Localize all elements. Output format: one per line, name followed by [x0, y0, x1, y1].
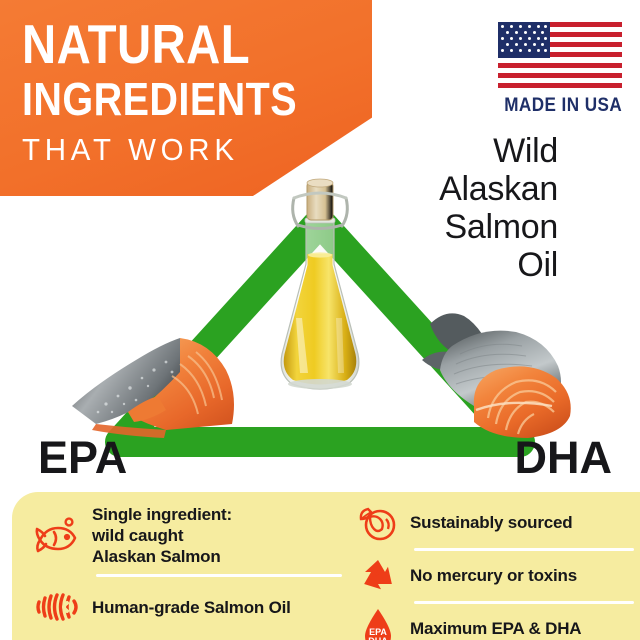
droplet-text-dha: DHA [368, 636, 388, 640]
feature-divider [414, 601, 634, 604]
headline-line-1: NATURAL [22, 18, 280, 72]
fish-outline-icon [34, 513, 80, 559]
feature-item-maximum-epa-dha: EPA DHA Maximum EPA & DHA [356, 608, 634, 640]
feature-text-single-ingredient: Single ingredient: wild caught Alaskan S… [92, 504, 232, 567]
recycle-icon [356, 555, 400, 597]
feature-line: wild caught [92, 525, 232, 546]
feature-text-no-mercury: No mercury or toxins [410, 565, 577, 586]
feature-line: Single ingredient: [92, 504, 232, 525]
epa-label: EPA [38, 432, 127, 484]
feature-line: Sustainably sourced [410, 512, 572, 533]
feature-line: No mercury or toxins [410, 565, 577, 586]
product-title-line-1: Wild [328, 132, 558, 170]
features-panel: Single ingredient: wild caught Alaskan S… [12, 492, 640, 640]
feature-item-no-mercury: No mercury or toxins [356, 555, 634, 597]
dha-label: DHA [515, 432, 613, 484]
oil-bottle-icon [272, 168, 368, 398]
globe-leaf-icon [356, 502, 400, 544]
usa-flag-icon [498, 22, 622, 88]
headline-text-group: NATURAL INGREDIENTS THAT WORK [22, 18, 322, 168]
feature-line: Human-grade Salmon Oil [92, 597, 291, 618]
salmon-fillet-stripes-icon [34, 584, 80, 630]
feature-item-human-grade: Human-grade Salmon Oil [34, 584, 342, 630]
feature-text-maximum-epa-dha: Maximum EPA & DHA [410, 618, 581, 639]
headline-line-3: THAT WORK [22, 132, 307, 168]
headline-line-2: INGREDIENTS [22, 77, 280, 122]
epa-dha-droplet-icon: EPA DHA [356, 608, 400, 640]
feature-line: Maximum EPA & DHA [410, 618, 581, 639]
feature-item-single-ingredient: Single ingredient: wild caught Alaskan S… [34, 504, 342, 567]
feature-divider [414, 548, 634, 551]
flag-canton [498, 22, 550, 58]
features-left-column: Single ingredient: wild caught Alaskan S… [12, 492, 348, 640]
made-in-usa-caption: MADE IN USA [504, 95, 616, 117]
feature-item-sustainably-sourced: Sustainably sourced [356, 502, 634, 544]
feature-divider [96, 574, 342, 577]
salmon-fillet-icon [62, 312, 252, 444]
feature-text-human-grade: Human-grade Salmon Oil [92, 597, 291, 618]
features-right-column: Sustainably sourced [348, 492, 640, 640]
feature-text-sustainably-sourced: Sustainably sourced [410, 512, 572, 533]
salmon-tail-icon [412, 302, 592, 444]
feature-line: Alaskan Salmon [92, 546, 232, 567]
made-in-usa-badge: MADE IN USA [498, 22, 622, 117]
product-infographic: NATURAL INGREDIENTS THAT WORK [0, 0, 640, 640]
